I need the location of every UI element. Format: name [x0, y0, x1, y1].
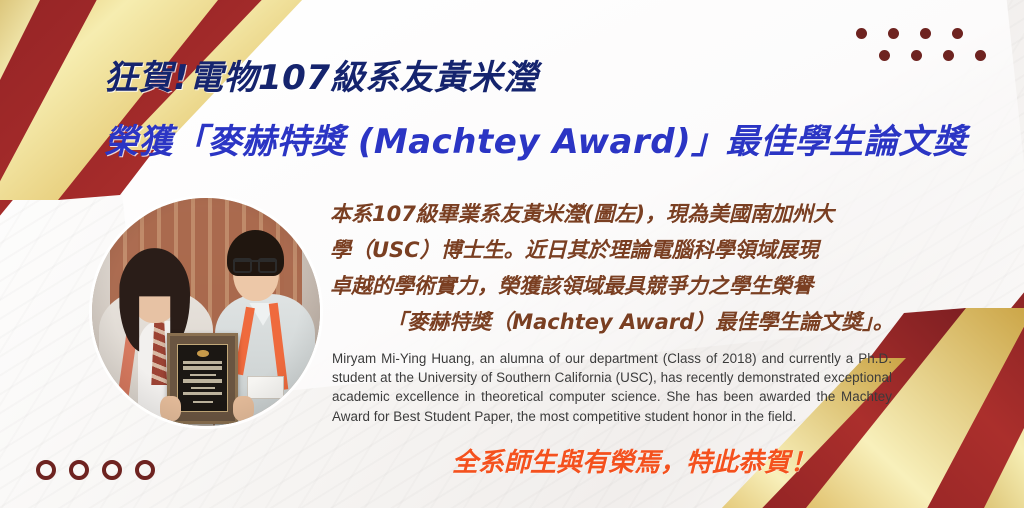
- headline-line-2: 榮獲「麥赫特獎 (Machtey Award)」最佳學生論文獎: [104, 120, 1024, 164]
- headline-line-1: 狂賀!電物107級系友黃米瀅: [104, 56, 1024, 100]
- decorative-ring: [135, 460, 155, 480]
- decorative-ring: [36, 460, 56, 480]
- photo-vignette: [92, 198, 320, 426]
- headline-block: 狂賀!電物107級系友黃米瀅 榮獲「麥赫特獎 (Machtey Award)」最…: [104, 56, 1024, 164]
- chinese-body-line-4: 「麥赫特獎（Machtey Award）最佳學生論文獎」。: [330, 304, 950, 340]
- chinese-body-line-3: 卓越的學術實力，榮獲該領域最具競爭力之學生榮譽: [330, 268, 950, 304]
- congratulation-slogan: 全系師生與有榮焉，特此恭賀！: [452, 446, 816, 480]
- photo-content: [92, 198, 320, 426]
- award-photo: [92, 198, 320, 426]
- decorative-ring: [69, 460, 89, 480]
- ring-cluster-bottom-left: [36, 460, 196, 490]
- chinese-body-line-1: 本系107級畢業系友黃米瀅(圖左)，現為美國南加州大: [330, 196, 950, 232]
- decorative-dot: [856, 28, 867, 39]
- decorative-dot: [920, 28, 931, 39]
- decorative-dot: [952, 28, 963, 39]
- english-body-paragraph: Miryam Mi-Ying Huang, an alumna of our d…: [332, 349, 892, 426]
- poster-canvas: 狂賀!電物107級系友黃米瀅 榮獲「麥赫特獎 (Machtey Award)」最…: [0, 0, 1024, 508]
- decorative-dot: [888, 28, 899, 39]
- chinese-body-paragraph: 本系107級畢業系友黃米瀅(圖左)，現為美國南加州大 學（USC）博士生。近日其…: [330, 196, 950, 340]
- chinese-body-line-2: 學（USC）博士生。近日其於理論電腦科學領域展現: [330, 232, 950, 268]
- decorative-ring: [102, 460, 122, 480]
